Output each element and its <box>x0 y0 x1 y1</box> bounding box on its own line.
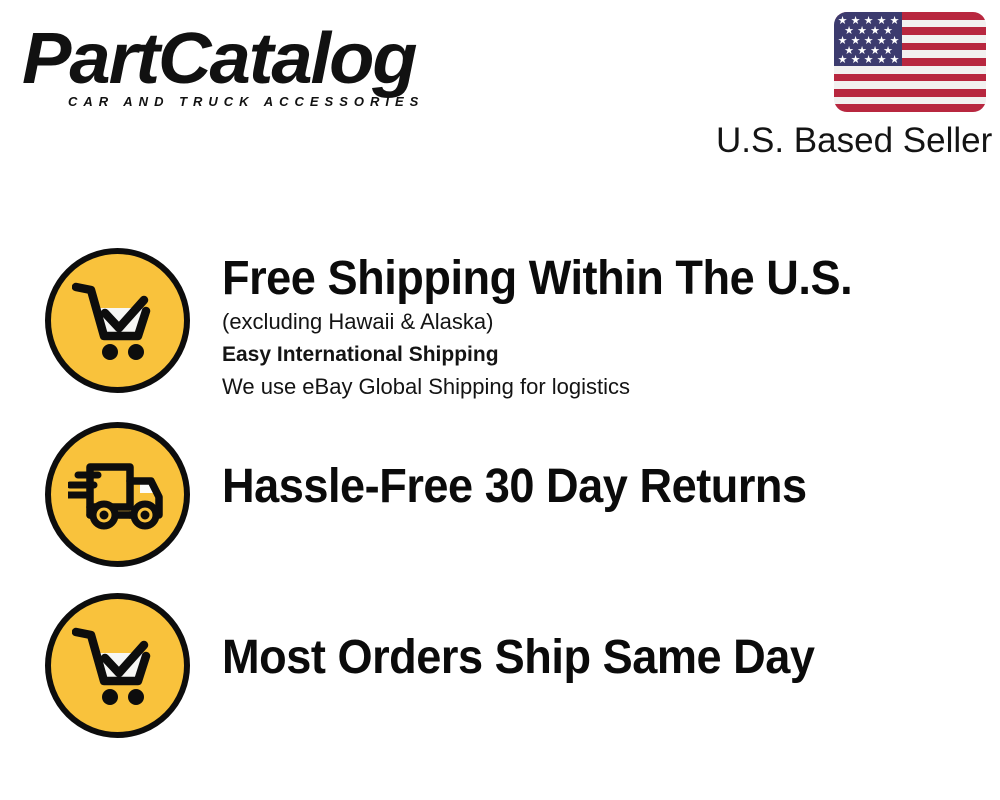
feature-row: Free Shipping Within The U.S. (excluding… <box>0 248 1000 423</box>
delivery-truck-icon <box>45 422 190 567</box>
feature-text-block: Hassle-Free 30 Day Returns <box>222 460 980 514</box>
brand-tagline: CAR AND TRUCK ACCESSORIES <box>68 94 424 110</box>
feature-title: Free Shipping Within The U.S. <box>222 252 935 306</box>
feature-row: Hassle-Free 30 Day Returns <box>0 422 1000 594</box>
feature-row: Most Orders Ship Same Day <box>0 593 1000 768</box>
partcatalog-logo: PartCatalog CAR AND TRUCK ACCESSORIES <box>22 22 492 112</box>
us-based-seller-badge: ★ ★ ★ ★ ★ ★ ★ ★ ★ ★ ★ ★ ★ ★ ★ ★ ★ ★ ★ ★ <box>716 12 986 161</box>
feature-subline: We use eBay Global Shipping for logistic… <box>222 371 980 403</box>
feature-subline-bold: Easy International Shipping <box>222 338 980 371</box>
shopping-cart-check-icon <box>45 248 190 393</box>
feature-text-block: Free Shipping Within The U.S. (excluding… <box>222 252 980 403</box>
feature-title: Most Orders Ship Same Day <box>222 631 935 685</box>
shipping-info-banner: PartCatalog CAR AND TRUCK ACCESSORIES ★ <box>0 0 1000 800</box>
feature-title: Hassle-Free 30 Day Returns <box>222 460 935 514</box>
feature-subline: (excluding Hawaii & Alaska) <box>222 306 980 338</box>
feature-text-block: Most Orders Ship Same Day <box>222 631 980 685</box>
banner-header: PartCatalog CAR AND TRUCK ACCESSORIES ★ <box>0 0 1000 170</box>
shopping-cart-check-icon <box>45 593 190 738</box>
us-based-seller-label: U.S. Based Seller <box>716 121 986 161</box>
brand-wordmark: PartCatalog <box>22 22 506 96</box>
us-flag-icon: ★ ★ ★ ★ ★ ★ ★ ★ ★ ★ ★ ★ ★ ★ ★ ★ ★ ★ ★ ★ <box>834 12 986 112</box>
